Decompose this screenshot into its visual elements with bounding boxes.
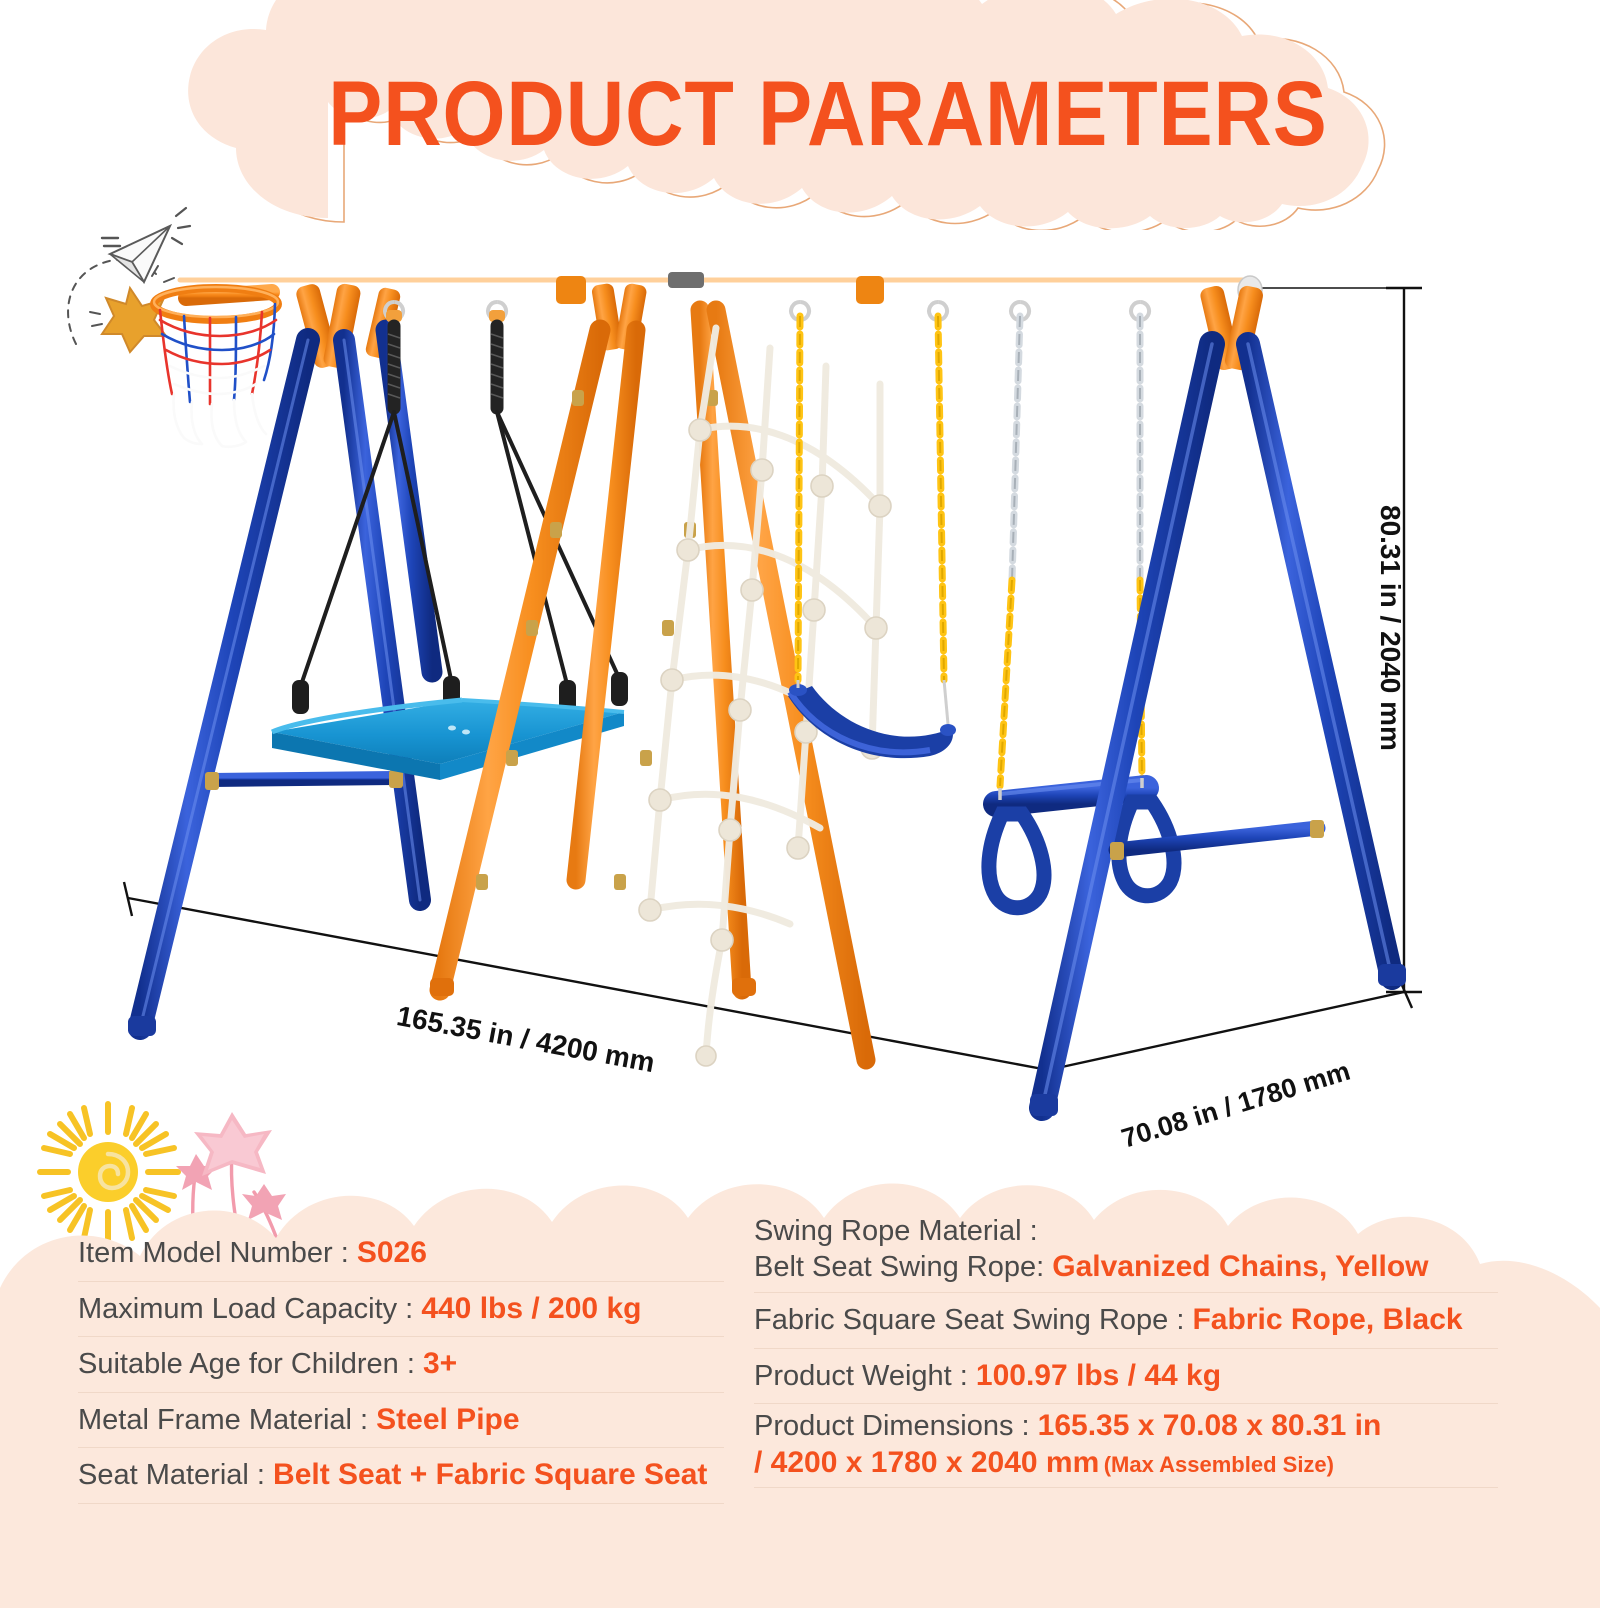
chain-silver [1012, 316, 1140, 580]
spec-value: 165.35 x 70.08 x 80.31 in [1038, 1409, 1382, 1442]
product-illustration [0, 180, 1600, 1190]
spec-value: 3+ [423, 1347, 457, 1380]
spec-note: (Max Assembled Size) [1104, 1452, 1334, 1477]
spec-value: 440 lbs / 200 kg [421, 1292, 641, 1325]
spec-rope-heading: Swing Rope Material : [754, 1214, 1498, 1249]
fabric-square-seat [272, 700, 624, 780]
spec-label: Product Weight : [754, 1360, 976, 1392]
spec-value-mm: / 4200 x 1780 x 2040 mm [754, 1446, 1099, 1479]
spec-label: Item Model Number : [78, 1237, 357, 1269]
spec-row-load-capacity: Maximum Load Capacity : 440 lbs / 200 kg [78, 1282, 724, 1338]
spec-column-left: Item Model Number : S026 Maximum Load Ca… [0, 1196, 742, 1606]
spec-row-product-dimensions: Product Dimensions : 165.35 x 70.08 x 80… [754, 1404, 1498, 1488]
spec-value: Belt Seat + Fabric Square Seat [273, 1458, 707, 1491]
spec-value: Steel Pipe [376, 1403, 519, 1436]
spec-value: S026 [357, 1236, 427, 1269]
spec-label: Maximum Load Capacity : [78, 1293, 421, 1325]
spec-row-fabric-rope: Fabric Square Seat Swing Rope : Fabric R… [754, 1293, 1498, 1349]
spec-row-belt-rope: Swing Rope Material : Belt Seat Swing Ro… [754, 1210, 1498, 1293]
spec-label: Fabric Square Seat Swing Rope : [754, 1304, 1192, 1336]
spec-value: Fabric Rope, Black [1192, 1303, 1462, 1336]
dimension-label-height: 80.31 in / 2040 mm [1374, 505, 1406, 751]
frame-left-a [128, 282, 420, 1036]
spec-value: Galvanized Chains, Yellow [1052, 1250, 1428, 1283]
spec-label: Metal Frame Material : [78, 1404, 376, 1436]
spec-row-suitable-age: Suitable Age for Children : 3+ [78, 1337, 724, 1393]
spec-row-product-weight: Product Weight : 100.97 lbs / 44 kg [754, 1349, 1498, 1405]
spec-label: Seat Material : [78, 1459, 273, 1491]
spec-label: Belt Seat Swing Rope: [754, 1251, 1052, 1283]
infographic-canvas: PRODUCT PARAMETERS [0, 0, 1600, 1600]
spec-label: Suitable Age for Children : [78, 1348, 423, 1380]
spec-row-model: Item Model Number : S026 [78, 1226, 724, 1282]
spec-table: Item Model Number : S026 Maximum Load Ca… [0, 1196, 1600, 1606]
basketball-hoop [154, 287, 278, 447]
spec-value: 100.97 lbs / 44 kg [976, 1359, 1221, 1392]
page-title: PRODUCT PARAMETERS [256, 62, 1400, 167]
fabric-square-seat-swing [272, 302, 628, 780]
spec-column-right: Swing Rope Material : Belt Seat Swing Ro… [742, 1196, 1600, 1606]
frame-right-a [1030, 284, 1406, 1116]
spec-row-frame-material: Metal Frame Material : Steel Pipe [78, 1393, 724, 1449]
spec-label: Product Dimensions : [754, 1410, 1038, 1442]
spec-row-seat-material: Seat Material : Belt Seat + Fabric Squar… [78, 1448, 724, 1504]
